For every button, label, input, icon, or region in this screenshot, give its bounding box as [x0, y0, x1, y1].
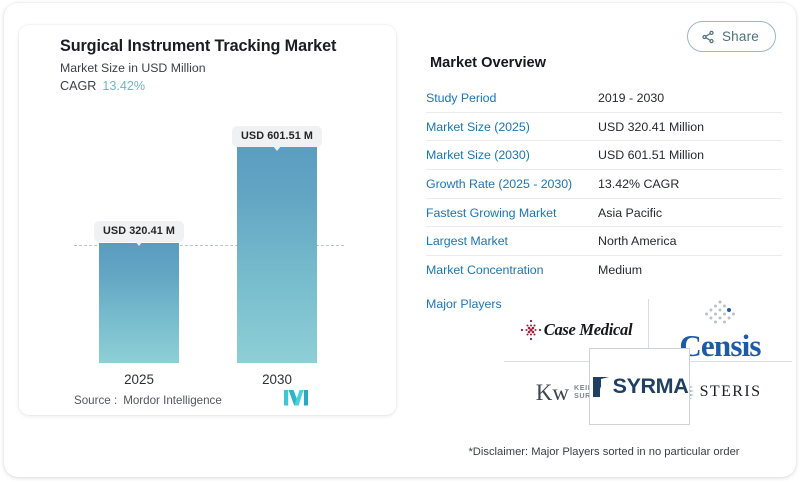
row-key: Study Period	[426, 91, 598, 105]
row-value: 2019 - 2030	[598, 91, 664, 105]
row-key: Market Size (2030)	[426, 148, 598, 162]
table-row: Fastest Growing Market Asia Pacific	[426, 199, 782, 228]
table-row: Largest Market North America	[426, 227, 782, 256]
row-key: Market Size (2025)	[426, 120, 598, 134]
source-name: Mordor Intelligence	[123, 394, 222, 407]
row-key: Largest Market	[426, 234, 598, 248]
share-icon	[701, 30, 715, 44]
source-label: Source :	[74, 394, 117, 407]
table-row: Growth Rate (2025 - 2030) 13.42% CAGR	[426, 170, 782, 199]
overview-title: Market Overview	[430, 55, 546, 71]
case-medical-wordmark: Case Medical	[544, 320, 633, 340]
player-logo-syrma: Syrma	[589, 348, 690, 425]
market-overview-table: Study Period 2019 - 2030 Market Size (20…	[426, 84, 782, 285]
table-row: Market Size (2030) USD 601.51 Million	[426, 141, 782, 170]
row-value: USD 320.41 Million	[598, 120, 704, 134]
table-row: Study Period 2019 - 2030	[426, 84, 782, 113]
keir-monogram-icon: Kw	[536, 381, 569, 404]
table-row: Market Size (2025) USD 320.41 Million	[426, 113, 782, 142]
bar-label-2030: USD 601.51 M	[232, 126, 322, 147]
axis-tick-2025: 2025	[124, 372, 154, 387]
steris-wordmark: Steris	[700, 383, 762, 401]
bar-2030[interactable]	[237, 138, 317, 363]
bar-label-2025: USD 320.41 M	[94, 221, 184, 242]
row-value: 13.42% CAGR	[598, 177, 679, 191]
table-row: Market Concentration Medium	[426, 256, 782, 285]
mordor-intelligence-logo	[284, 389, 308, 411]
row-key: Market Concentration	[426, 263, 598, 277]
case-medical-diamond-icon	[520, 319, 542, 341]
market-report-card: Share Surgical Instrument Tracking Marke…	[4, 3, 796, 477]
disclaimer-text: *Disclaimer: Major Players sorted in no …	[426, 446, 782, 458]
censis-wordmark: Censis	[679, 330, 760, 361]
share-label: Share	[722, 29, 759, 44]
share-button[interactable]: Share	[687, 21, 776, 52]
source-row: Source : Mordor Intelligence	[74, 394, 222, 407]
row-value: Asia Pacific	[598, 206, 662, 220]
major-players-label: Major Players	[426, 297, 502, 311]
row-value: USD 601.51 Million	[598, 148, 704, 162]
syrma-wordmark: Syrma	[613, 374, 689, 399]
bar-2025[interactable]	[99, 243, 179, 363]
bar-chart-plot: USD 320.41 M USD 601.51 M 2025 2030 Sour…	[19, 25, 396, 415]
row-key: Growth Rate (2025 - 2030)	[426, 177, 598, 191]
row-value: Medium	[598, 263, 642, 277]
axis-tick-2030: 2030	[262, 372, 292, 387]
row-value: North America	[598, 234, 677, 248]
syrma-mark-icon	[591, 376, 611, 398]
row-key: Fastest Growing Market	[426, 206, 598, 220]
